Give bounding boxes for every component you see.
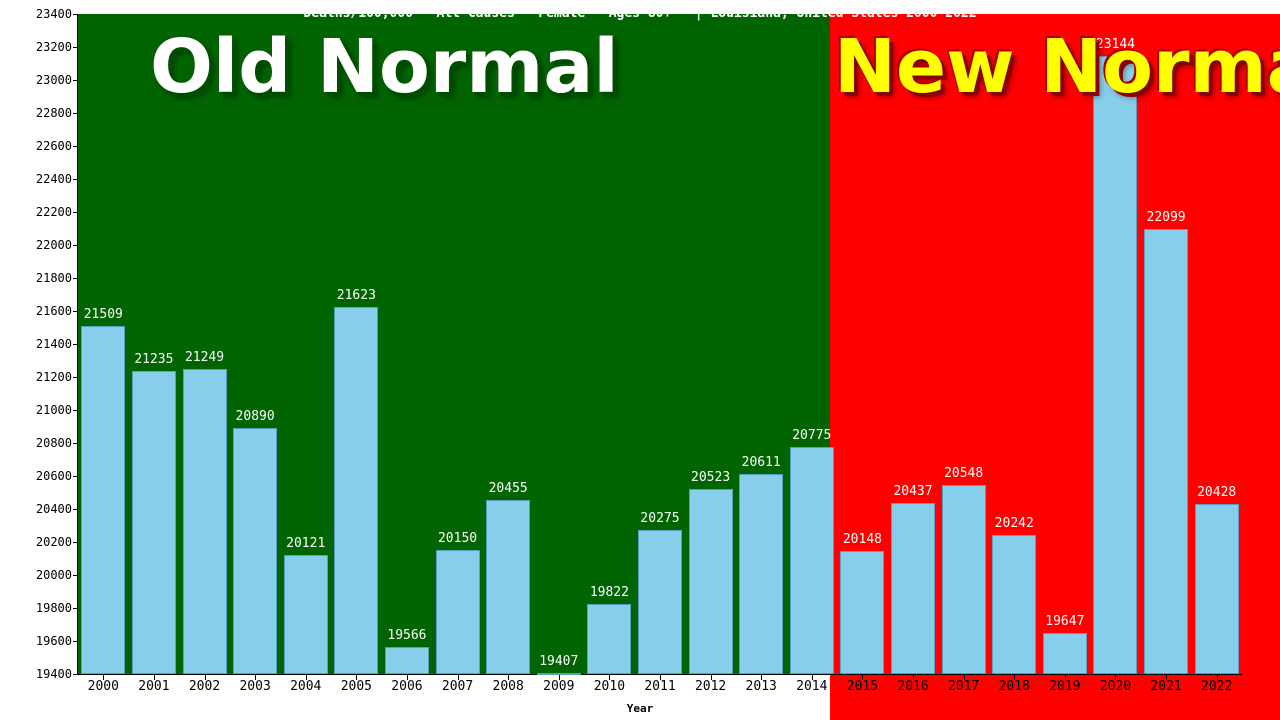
y-tick-label: 20800: [0, 437, 72, 449]
y-tick-mark: [73, 278, 78, 279]
y-tick-mark: [73, 179, 78, 180]
y-tick-label: 21000: [0, 404, 72, 416]
y-tick-mark: [73, 476, 78, 477]
x-tick-mark: [407, 675, 408, 680]
y-tick-label: 23200: [0, 41, 72, 53]
x-tick-mark: [761, 675, 762, 680]
y-tick-mark: [73, 47, 78, 48]
x-tick-mark: [1115, 675, 1116, 680]
bar[interactable]: [436, 550, 480, 674]
x-tick-mark: [609, 675, 610, 680]
bar[interactable]: [334, 307, 378, 674]
bar[interactable]: [537, 673, 581, 675]
bar[interactable]: [891, 503, 935, 674]
y-tick-mark: [73, 14, 78, 15]
bar[interactable]: [81, 326, 125, 674]
x-tick-mark: [356, 675, 357, 680]
y-tick-label: 21200: [0, 371, 72, 383]
x-tick-label: 2022: [1187, 679, 1247, 694]
x-axis-label: Year: [0, 702, 1280, 715]
y-tick-label: 21400: [0, 338, 72, 350]
new-normal-overlay-text: New Normal: [834, 26, 1280, 108]
bar-value-label: 20428: [1177, 486, 1257, 500]
bar[interactable]: [638, 530, 682, 674]
bar-value-label: 22099: [1126, 211, 1206, 225]
x-tick-mark: [154, 675, 155, 680]
bar-value-label: 20242: [974, 517, 1054, 531]
y-tick-label: 21600: [0, 305, 72, 317]
y-tick-mark: [73, 443, 78, 444]
x-tick-mark: [205, 675, 206, 680]
bar-value-label: 21249: [165, 351, 245, 365]
bar[interactable]: [587, 604, 631, 674]
x-tick-mark: [559, 675, 560, 680]
y-tick-mark: [73, 641, 78, 642]
bar-value-label: 20548: [924, 467, 1004, 481]
y-tick-mark: [73, 608, 78, 609]
y-tick-mark: [73, 344, 78, 345]
bar[interactable]: [739, 474, 783, 674]
y-tick-mark: [73, 542, 78, 543]
y-tick-label: 22200: [0, 206, 72, 218]
x-tick-mark: [255, 675, 256, 680]
bar[interactable]: [1093, 56, 1137, 674]
y-tick-label: 20600: [0, 470, 72, 482]
bar-value-label: 21623: [316, 289, 396, 303]
x-tick-mark: [103, 675, 104, 680]
y-tick-label: 22400: [0, 173, 72, 185]
y-tick-label: 23400: [0, 8, 72, 20]
y-tick-label: 20000: [0, 569, 72, 581]
x-tick-mark: [1166, 675, 1167, 680]
y-tick-mark: [73, 410, 78, 411]
y-tick-label: 19800: [0, 602, 72, 614]
bar[interactable]: [1144, 229, 1188, 674]
y-tick-mark: [73, 674, 78, 675]
y-tick-mark: [73, 80, 78, 81]
x-tick-mark: [508, 675, 509, 680]
bar[interactable]: [385, 647, 429, 674]
y-tick-label: 22600: [0, 140, 72, 152]
bar[interactable]: [233, 428, 277, 674]
bar[interactable]: [689, 489, 733, 674]
x-tick-mark: [306, 675, 307, 680]
y-tick-mark: [73, 377, 78, 378]
x-tick-mark: [1014, 675, 1015, 680]
chart-root: Deaths/100,000 - All Causes - Female - A…: [0, 0, 1280, 720]
y-tick-mark: [73, 575, 78, 576]
x-tick-mark: [660, 675, 661, 680]
bar[interactable]: [1195, 504, 1239, 674]
y-tick-label: 19400: [0, 668, 72, 680]
x-tick-mark: [812, 675, 813, 680]
y-tick-mark: [73, 245, 78, 246]
x-tick-mark: [964, 675, 965, 680]
bar[interactable]: [132, 371, 176, 674]
bar[interactable]: [284, 555, 328, 674]
y-tick-label: 22800: [0, 107, 72, 119]
y-tick-label: 22000: [0, 239, 72, 251]
y-tick-label: 21800: [0, 272, 72, 284]
y-tick-mark: [73, 113, 78, 114]
bar[interactable]: [942, 485, 986, 674]
bar[interactable]: [790, 447, 834, 674]
x-tick-mark: [458, 675, 459, 680]
bar[interactable]: [840, 551, 884, 674]
y-tick-mark: [73, 509, 78, 510]
y-tick-label: 19600: [0, 635, 72, 647]
y-tick-mark: [73, 212, 78, 213]
x-tick-mark: [913, 675, 914, 680]
chart-title: Deaths/100,000 - All Causes - Female - A…: [0, 6, 1280, 21]
bar[interactable]: [992, 535, 1036, 674]
bar[interactable]: [486, 500, 530, 674]
y-tick-mark: [73, 146, 78, 147]
y-tick-label: 20400: [0, 503, 72, 515]
x-tick-mark: [862, 675, 863, 680]
x-tick-mark: [711, 675, 712, 680]
bar[interactable]: [1043, 633, 1087, 674]
bar-value-label: 20455: [468, 482, 548, 496]
x-tick-mark: [1065, 675, 1066, 680]
x-tick-mark: [1217, 675, 1218, 680]
bar-value-label: 20890: [215, 410, 295, 424]
old-normal-overlay-text: Old Normal: [150, 26, 619, 108]
y-tick-label: 20200: [0, 536, 72, 548]
bar-value-label: 20775: [772, 429, 852, 443]
y-tick-label: 23000: [0, 74, 72, 86]
bar-value-label: 21509: [63, 308, 143, 322]
